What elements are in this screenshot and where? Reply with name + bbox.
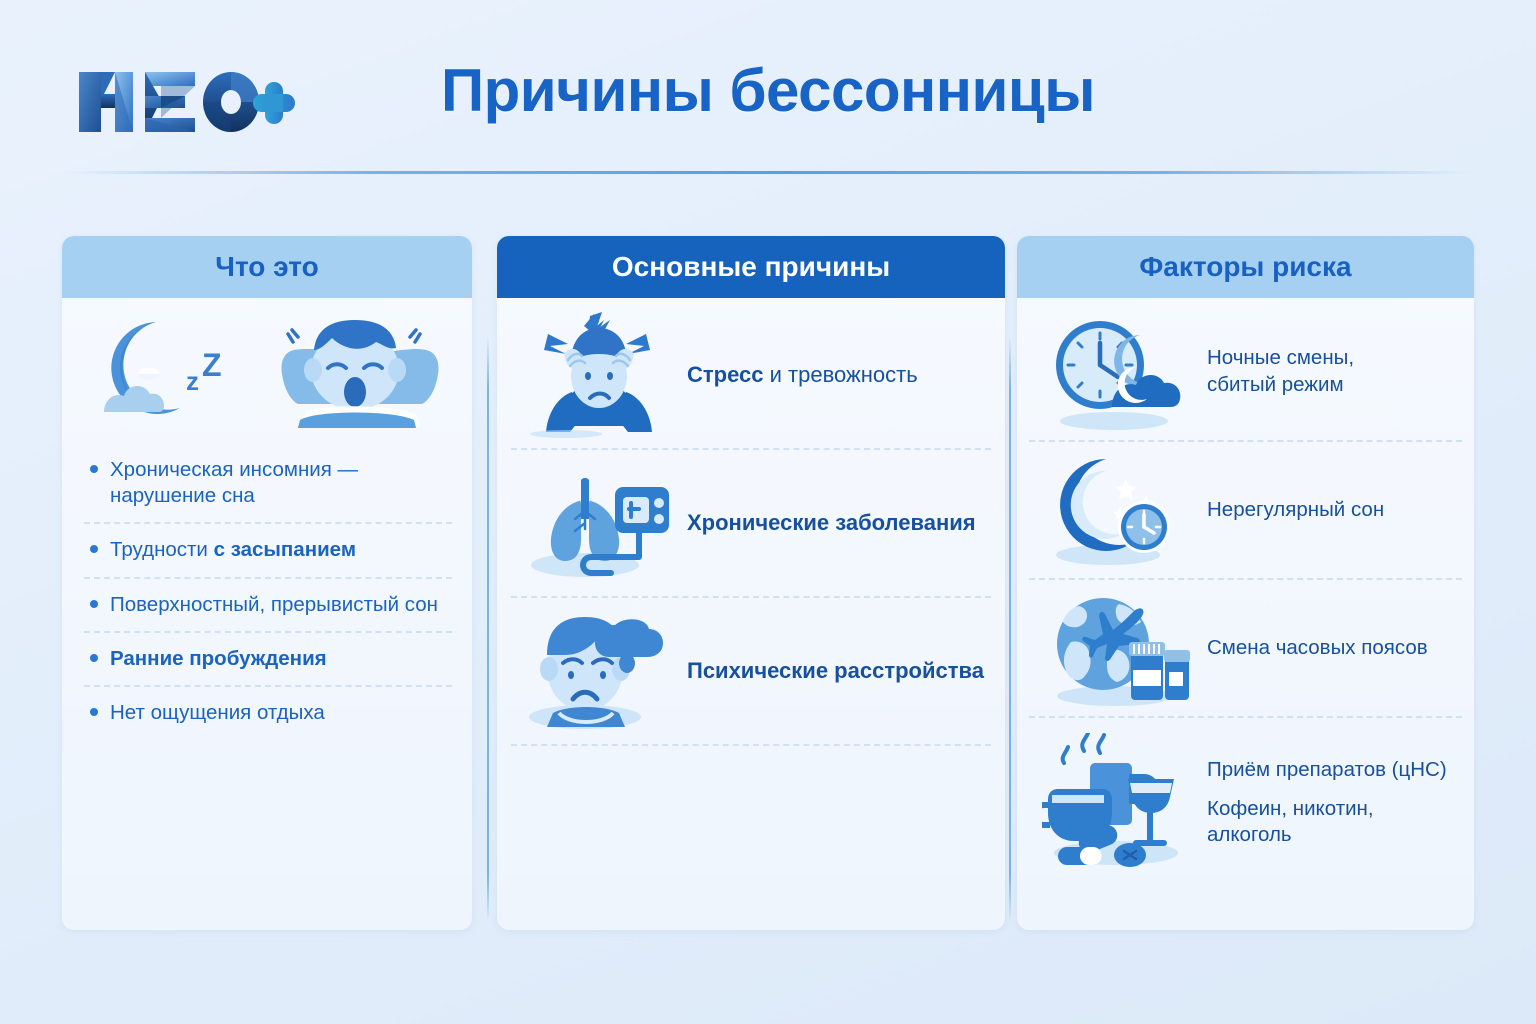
risk-label: Нерегулярный сон <box>1207 497 1384 524</box>
risk-label: Ночные смены, сбитый режим <box>1207 345 1354 398</box>
page-title: Причины бессонницы <box>0 56 1536 125</box>
list-item: Нет ощущения отдыха <box>84 685 452 739</box>
list-item: Ночные смены, сбитый режим <box>1029 304 1462 442</box>
moon-zzz-icon: z Z <box>94 308 254 428</box>
bullet-text-strong: с засыпанием <box>214 538 356 561</box>
bullet-text: Хроническая инсомния — нарушение сна <box>110 458 358 507</box>
bullet-text-strong: Ранние пробуждения <box>110 647 327 670</box>
risk-label-line1: Приём препаратов (цНС) <box>1207 757 1462 784</box>
risk-label-line1: Ночные смены, <box>1207 345 1354 372</box>
bullet-text: Нет ощущения отдыха <box>110 701 325 724</box>
sleeping-face-icon <box>270 308 440 428</box>
list-item: Приём препаратов (цНС) Кофеин, никотин, … <box>1029 718 1462 888</box>
list-item: Ранние пробуждения <box>84 631 452 685</box>
bullet-text: Поверхностный, прерывистый сон <box>110 593 438 616</box>
what-is-it-bullet-list: Хроническая инсомния — нарушение сна Тру… <box>62 438 472 739</box>
coffee-wine-pills-icon <box>1029 733 1207 873</box>
column-divider-1 <box>487 336 489 922</box>
stress-head-icon <box>511 312 687 438</box>
risk-label-line2: сбитый режим <box>1207 372 1354 399</box>
risk-label-line2: Кофеин, никотин, алкоголь <box>1207 796 1462 849</box>
cause-label: Хронические заболевания <box>687 509 976 538</box>
cause-label-strong: Стресс <box>687 362 764 387</box>
cause-label-regular: и тревожность <box>764 362 918 387</box>
risk-label-line1: Нерегулярный сон <box>1207 497 1384 524</box>
svg-text:z: z <box>186 366 199 396</box>
risk-label: Приём препаратов (цНС) Кофеин, никотин, … <box>1207 757 1462 849</box>
risk-label-line1: Смена часовых поясов <box>1207 635 1428 662</box>
list-item: Трудности с засыпанием <box>84 522 452 576</box>
list-item: Психические расстройства <box>511 598 991 746</box>
page-header: Причины бессонницы <box>0 0 1536 172</box>
cause-label-strong: Хронические заболевания <box>687 510 976 535</box>
cause-label-strong: Психические расстройства <box>687 658 984 683</box>
cause-label: Психические расстройства <box>687 657 984 686</box>
card-risk-factors-title: Факторы риска <box>1017 236 1474 298</box>
list-item: Смена часовых поясов <box>1029 580 1462 718</box>
sad-face-raincloud-icon <box>511 607 687 735</box>
cause-label: Стресс и тревожность <box>687 361 918 390</box>
lungs-bp-monitor-icon <box>511 461 687 585</box>
card-what-is-it: Что это z Z <box>62 236 472 930</box>
main-causes-rows: Стресс и тревожность <box>497 298 1005 746</box>
cards-container: Что это z Z <box>0 236 1536 934</box>
list-item: Поверхностный, прерывистый сон <box>84 577 452 631</box>
list-item: Хронические заболевания <box>511 450 991 598</box>
clock-moon-icon <box>1029 313 1207 431</box>
svg-text:Z: Z <box>202 347 222 383</box>
column-divider-2 <box>1009 336 1011 922</box>
risk-factors-rows: Ночные смены, сбитый режим <box>1017 298 1474 888</box>
card-main-causes-title: Основные причины <box>497 236 1005 298</box>
list-item: Хроническая инсомния — нарушение сна <box>84 444 452 522</box>
list-item: Нерегулярный сон <box>1029 442 1462 580</box>
bullet-text-pre: Трудности <box>110 538 214 561</box>
globe-plane-pills-icon <box>1029 588 1207 708</box>
crescent-stars-clock-icon <box>1029 451 1207 569</box>
card-main-causes: Основные причины <box>497 236 1005 930</box>
risk-label: Смена часовых поясов <box>1207 635 1428 662</box>
card-what-is-it-icons: z Z <box>62 298 472 438</box>
list-item: Стресс и тревожность <box>511 302 991 450</box>
card-risk-factors: Факторы риска <box>1017 236 1474 930</box>
header-divider <box>62 171 1474 174</box>
card-what-is-it-title: Что это <box>62 236 472 298</box>
